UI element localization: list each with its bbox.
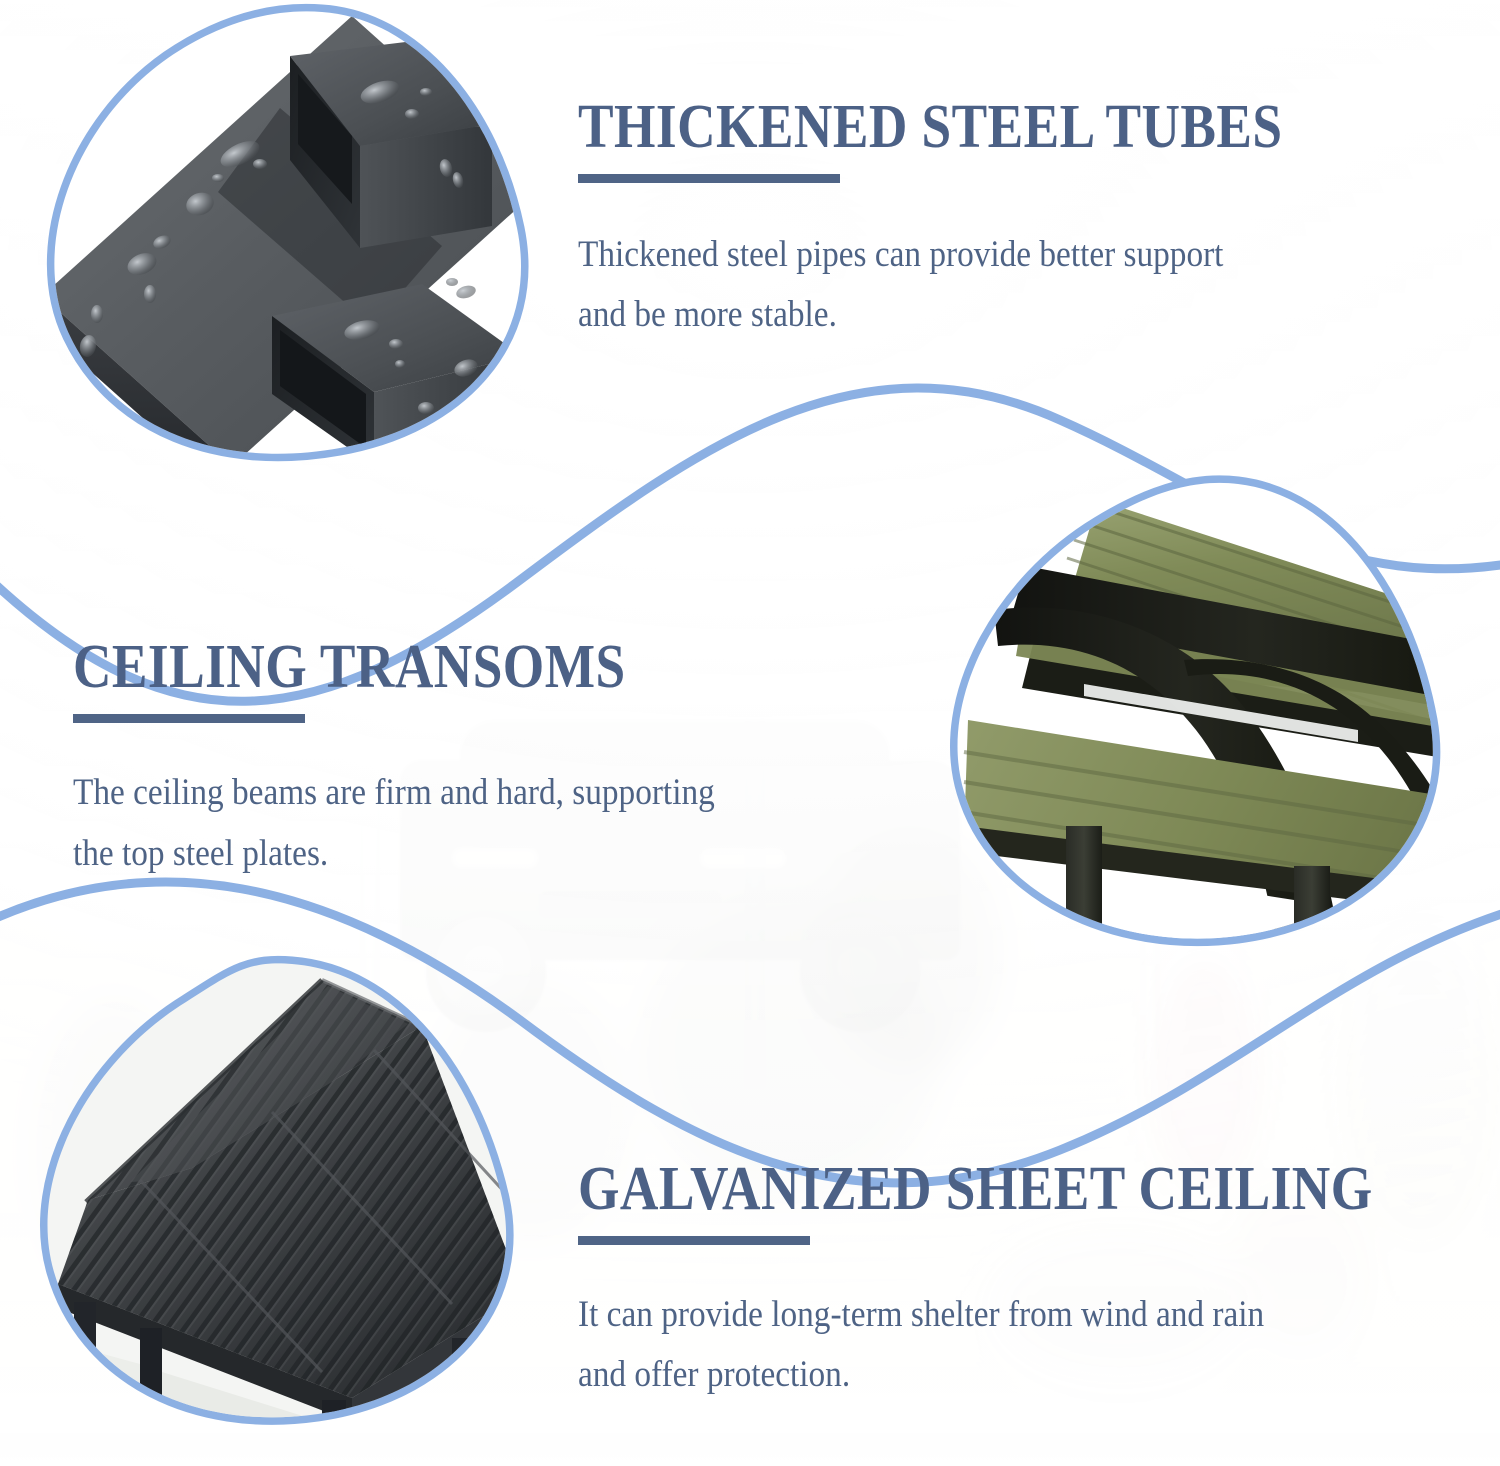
infographic-canvas: THICKENED STEEL TUBES Thickened steel pi…	[0, 0, 1500, 1466]
feature-image-ceiling-transoms	[938, 470, 1468, 970]
feature-block-galvanized-sheet-ceiling: GALVANIZED SHEET CEILING It can provide …	[578, 1158, 1500, 1405]
feature-title: GALVANIZED SHEET CEILING	[578, 1158, 1373, 1220]
feature-body-line: and offer protection.	[578, 1354, 850, 1395]
feature-body: It can provide long-term shelter from wi…	[578, 1285, 1410, 1405]
feature-block-thickened-steel-tubes: THICKENED STEEL TUBES Thickened steel pi…	[578, 96, 1397, 345]
feature-title-underline	[578, 1236, 810, 1245]
feature-body-line: It can provide long-term shelter from wi…	[578, 1294, 1264, 1335]
feature-body-line: The ceiling beams are firm and hard, sup…	[73, 772, 715, 813]
feature-title: CEILING TRANSOMS	[73, 636, 686, 698]
feature-body-line: and be more stable.	[578, 294, 837, 335]
feature-title: THICKENED STEEL TUBES	[578, 96, 1282, 158]
feature-body: Thickened steel pipes can provide better…	[578, 225, 1315, 345]
feature-body-line: the top steel plates.	[73, 833, 328, 874]
feature-body-line: Thickened steel pipes can provide better…	[578, 234, 1223, 275]
feature-body: The ceiling beams are firm and hard, sup…	[73, 763, 715, 884]
feature-image-galvanized-sheet-ceiling	[22, 952, 542, 1452]
feature-title-underline	[578, 174, 840, 183]
galvanized-sheet-photo	[22, 952, 542, 1452]
ceiling-transoms-photo	[938, 470, 1468, 986]
feature-title-underline	[73, 714, 305, 723]
steel-tubes-photo	[22, 0, 542, 496]
feature-image-thickened-steel-tubes	[22, 0, 542, 476]
feature-block-ceiling-transoms: CEILING TRANSOMS The ceiling beams are f…	[73, 636, 786, 884]
